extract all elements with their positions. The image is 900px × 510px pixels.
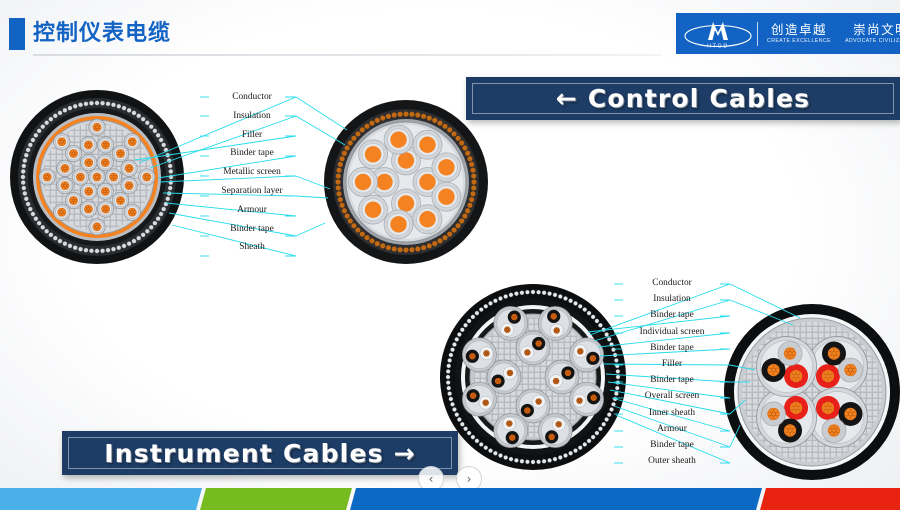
label-item: Conductor <box>213 92 291 103</box>
slogan-create-excellence: 创造卓越 CREATE EXCELLENCE <box>767 22 831 45</box>
control-cables-banner-label: ← Control Cables <box>556 84 810 113</box>
label-item: Binder tape <box>627 310 717 321</box>
bar-segment-light-blue <box>0 488 202 510</box>
page-title: 控制仪表电缆 <box>33 19 171 49</box>
label-item: Binder tape <box>627 375 717 386</box>
instrument-cable-armoured-figure <box>438 282 628 472</box>
label-item: Binder tape <box>627 343 717 354</box>
slide-canvas: 控制仪表电缆 HTGD 创造卓越 CREATE EXCELLENCE 崇尚文明 … <box>0 0 900 510</box>
label-item: Individual screen <box>627 327 717 338</box>
label-item: Metallic screen <box>213 167 291 178</box>
bar-segment-green <box>200 488 352 510</box>
label-item: Conductor <box>627 278 717 289</box>
slogan-en: CREATE EXCELLENCE <box>767 37 831 45</box>
instrument-cables-banner-label: Instrument Cables → <box>104 439 415 468</box>
company-logo-bar: HTGD 创造卓越 CREATE EXCELLENCE 崇尚文明 ADVOCAT… <box>676 13 900 54</box>
label-item: Filler <box>213 130 291 141</box>
label-item: Separation layer <box>213 186 291 197</box>
slogan-cn: 创造卓越 <box>767 22 831 37</box>
header-divider <box>33 54 661 56</box>
label-item: Binder tape <box>213 224 291 235</box>
bar-segment-blue <box>350 488 762 510</box>
bottom-color-bar <box>0 488 900 510</box>
label-item: Armour <box>627 424 717 435</box>
instrument-cable-label-list: Conductor Insulation Binder tape Individ… <box>627 278 717 472</box>
label-item: Sheath <box>213 242 291 253</box>
bar-segment-red <box>760 488 900 510</box>
banner-border: ← Control Cables <box>472 83 894 114</box>
label-item: Binder tape <box>213 148 291 159</box>
instrument-cable-unarmoured-figure <box>722 302 900 482</box>
label-item: Insulation <box>627 294 717 305</box>
label-item: Armour <box>213 205 291 216</box>
slogan-advocate-civilization: 崇尚文明 ADVOCATE CIVILIZATION <box>845 22 900 45</box>
label-item: Overall screen <box>627 391 717 402</box>
control-cables-banner[interactable]: ← Control Cables <box>466 77 900 120</box>
label-item: Insulation <box>213 111 291 122</box>
slogan-en: ADVOCATE CIVILIZATION <box>845 37 900 45</box>
htgd-logo-icon: HTGD <box>682 17 754 51</box>
slogan-cn: 崇尚文明 <box>845 22 900 37</box>
logo-divider <box>757 22 758 46</box>
banner-border: Instrument Cables → <box>68 437 452 469</box>
label-item: Binder tape <box>627 440 717 451</box>
svg-text:HTGD: HTGD <box>707 43 729 49</box>
logo-slogans: 创造卓越 CREATE EXCELLENCE 崇尚文明 ADVOCATE CIV… <box>767 22 900 45</box>
label-item: Outer sheath <box>627 456 717 467</box>
control-cable-label-list: Conductor Insulation Filler Binder tape … <box>213 92 291 261</box>
header-accent-block <box>9 18 25 50</box>
label-item: Inner sheath <box>627 408 717 419</box>
label-item: Filler <box>627 359 717 370</box>
control-cable-armoured-figure <box>8 88 186 266</box>
control-cable-braided-figure <box>322 98 490 266</box>
instrument-cables-banner[interactable]: Instrument Cables → <box>62 431 458 475</box>
